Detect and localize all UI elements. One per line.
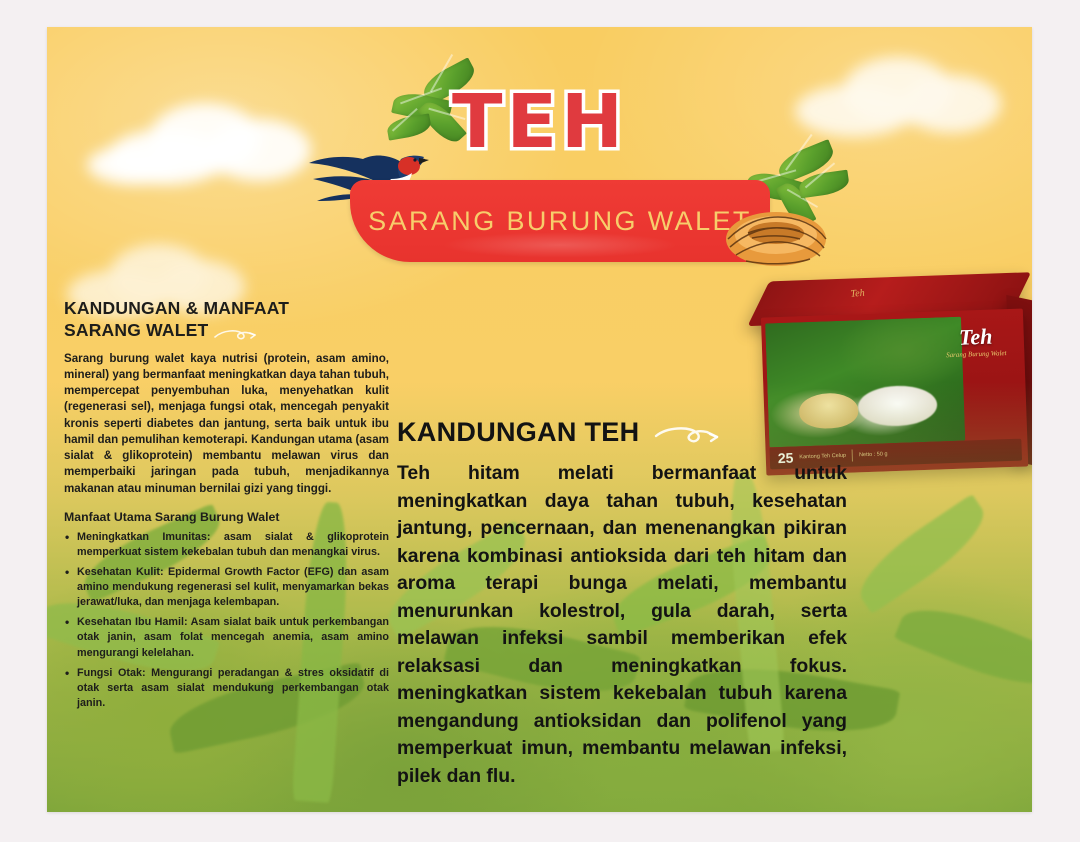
birds-nest-icon (722, 195, 830, 271)
box-net-label: Netto : 50 g (859, 451, 888, 458)
left-body-text: Sarang burung walet kaya nutrisi (protei… (64, 351, 389, 497)
box-logo: Teh Sarang Burung Walet (933, 325, 1019, 374)
leaf-blade (894, 592, 1032, 702)
poster-canvas: TEH SARANG BURUNG WALET Teh (47, 27, 1032, 812)
list-item: Kesehatan Kulit: Epidermal Growth Factor… (64, 565, 389, 610)
left-heading: KANDUNGAN & MANFAAT SARANG WALET (64, 297, 389, 342)
left-heading-line2: SARANG WALET (64, 320, 208, 340)
list-item: Fungsi Otak: Mengurangi peradangan & str… (64, 666, 389, 711)
left-heading-line1: KANDUNGAN & MANFAAT (64, 298, 289, 318)
list-item: Meningkatkan Imunitas: asam sialat & gli… (64, 530, 389, 560)
benefits-list: Meningkatkan Imunitas: asam sialat & gli… (64, 530, 389, 711)
page-title: TEH (47, 85, 1032, 159)
box-divider (852, 450, 853, 462)
curly-arrow-icon (653, 423, 723, 445)
box-top-brand: Teh (850, 287, 865, 299)
list-item: Kesehatan Ibu Hamil: Asam sialat baik un… (64, 615, 389, 660)
right-heading-label: KANDUNGAN TEH (397, 417, 639, 447)
left-subheading: Manfaat Utama Sarang Burung Walet (64, 510, 389, 524)
subtitle-text: SARANG BURUNG WALET (368, 206, 752, 237)
right-body-text: Teh hitam melati bermanfaat untuk mening… (397, 460, 847, 791)
box-brand-name: Teh (933, 325, 1018, 350)
nest-image (858, 385, 938, 427)
box-brand-sub: Sarang Burung Walet (934, 349, 1018, 360)
leaf-blade (848, 494, 997, 614)
right-heading: KANDUNGAN TEH (397, 417, 847, 448)
subtitle-banner: SARANG BURUNG WALET (350, 180, 770, 262)
right-text-column: KANDUNGAN TEH Teh hitam melati bermanfaa… (397, 417, 847, 791)
curly-arrow-icon (213, 325, 259, 339)
left-text-column: KANDUNGAN & MANFAAT SARANG WALET Sarang … (64, 297, 389, 716)
